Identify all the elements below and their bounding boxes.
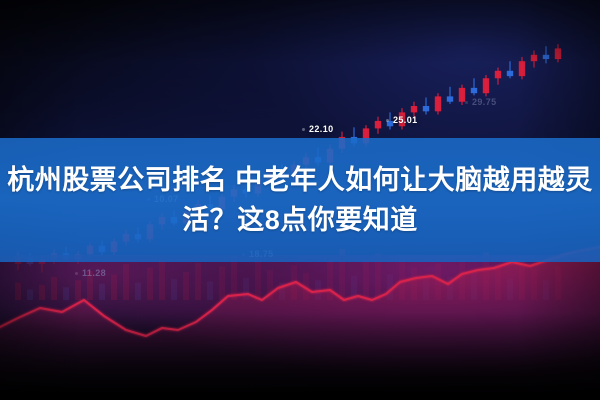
price-label-dot [465, 101, 468, 104]
title-line-1: 杭州股票公司排名 中老年人如何让大脑越用越灵 [7, 160, 593, 200]
price-label-dot [302, 128, 305, 131]
price-label: 25.01 [393, 115, 418, 125]
price-label-dot [75, 272, 78, 275]
price-label: 11.28 [82, 268, 106, 278]
price-label: 22.10 [309, 124, 334, 134]
price-label-dot [386, 119, 389, 122]
thumbnail-canvas: 10.0722.1025.0129.7518.7511.28 杭州股票公司排名 … [0, 0, 600, 400]
price-label: 29.75 [472, 97, 497, 107]
title-band: 杭州股票公司排名 中老年人如何让大脑越用越灵 活？这8点你要知道 [0, 138, 600, 262]
title-line-2: 活？这8点你要知道 [182, 200, 418, 240]
